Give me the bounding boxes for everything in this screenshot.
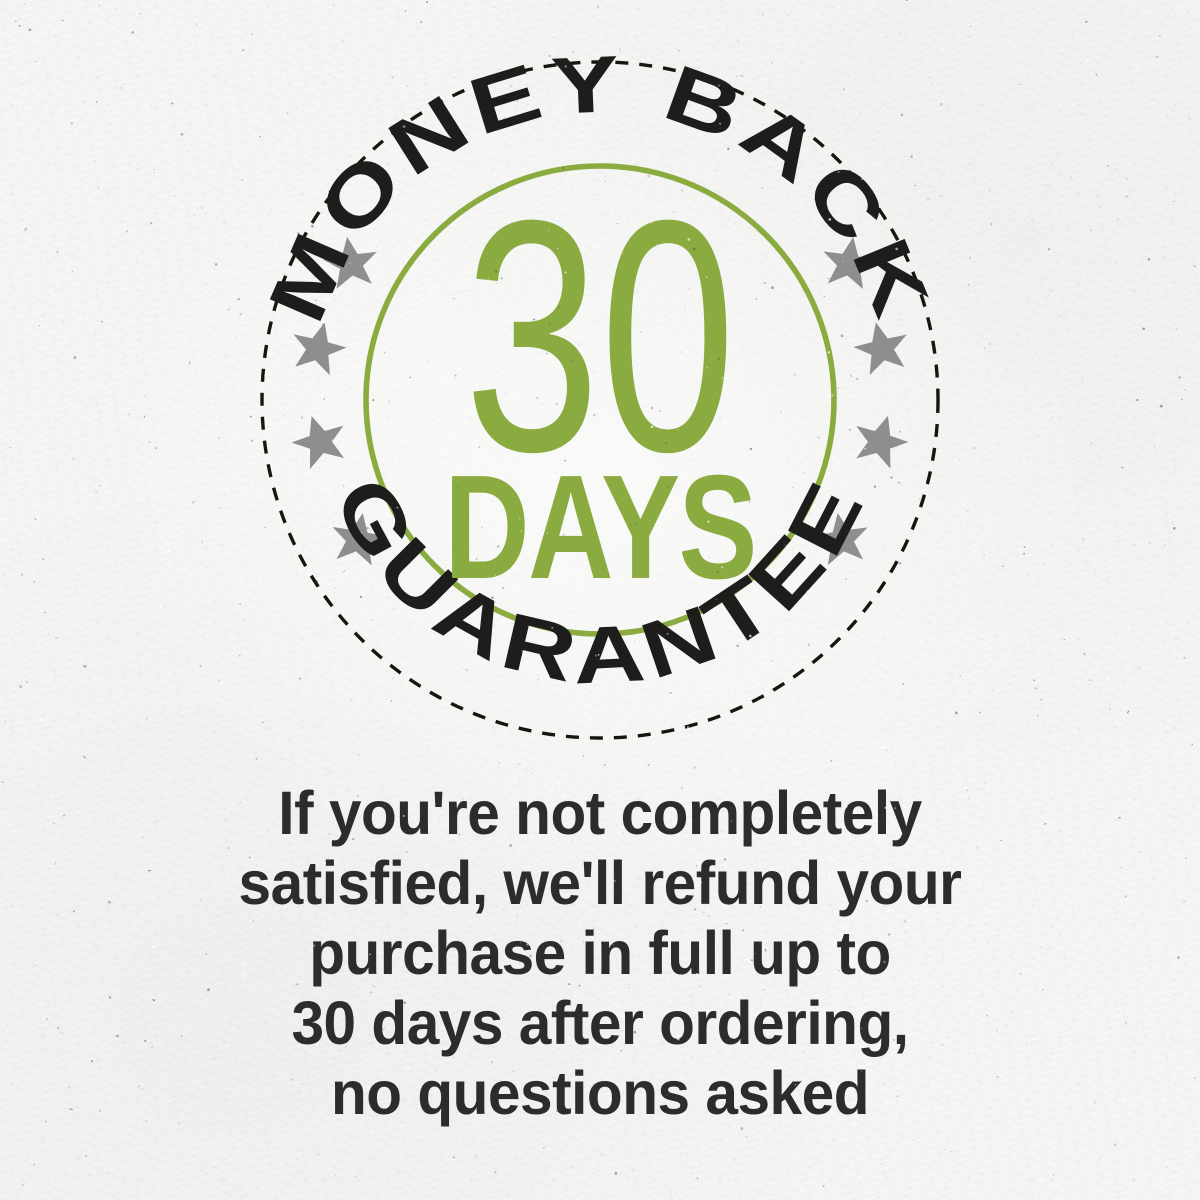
money-back-seal: MONEY BACK GUARANTEE 30 DAYS bbox=[0, 0, 1200, 760]
guarantee-promise-text: If you're not completely satisfied, we'l… bbox=[0, 778, 1200, 1128]
promise-line-3: purchase in full up to bbox=[24, 918, 1176, 988]
star-icon bbox=[286, 408, 353, 472]
promise-line-5: no questions asked bbox=[24, 1058, 1176, 1128]
promise-line-2: satisfied, we'll refund your bbox=[24, 848, 1176, 918]
badge-unit: DAYS bbox=[444, 445, 756, 610]
promise-line-1: If you're not completely bbox=[24, 778, 1176, 848]
guarantee-graphic: MONEY BACK GUARANTEE 30 DAYS If you're n… bbox=[0, 0, 1200, 1200]
star-icon bbox=[847, 408, 914, 472]
promise-line-4: 30 days after ordering, bbox=[24, 988, 1176, 1058]
